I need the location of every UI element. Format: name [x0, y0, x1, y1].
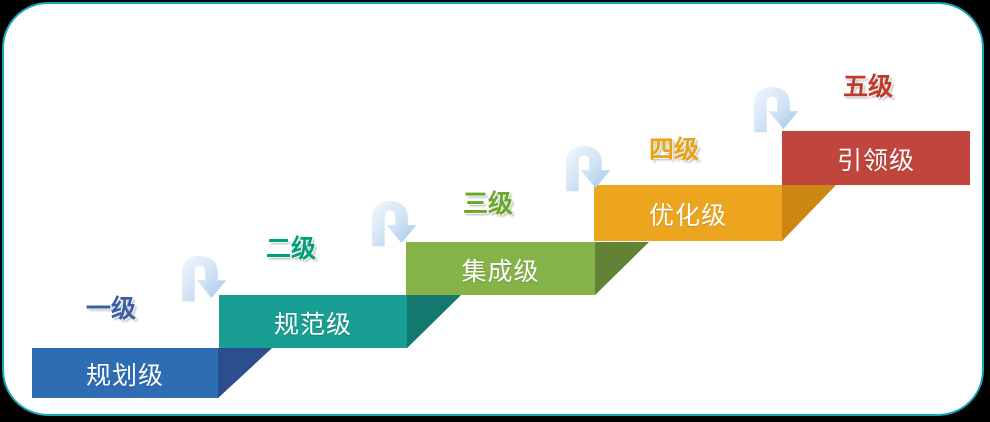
level-label-4: 四级 — [649, 130, 699, 166]
level-label-5: 五级 — [843, 67, 893, 103]
curved-arrow-icon-3 — [566, 146, 610, 191]
steps-group — [32, 131, 970, 398]
step-2-face[interactable] — [219, 295, 407, 348]
curved-arrow-icon-1 — [182, 256, 226, 301]
step-1-face[interactable] — [32, 348, 218, 398]
level-label-2: 二级 — [266, 229, 316, 265]
step-4-face[interactable] — [594, 185, 782, 241]
figure-stage: 规划级 规范级 集成级 优化级 引领级 一级 二级 三级 四级 五级 — [0, 0, 990, 422]
step-3-face[interactable] — [406, 242, 595, 295]
step-5-face[interactable] — [782, 131, 970, 185]
level-label-1: 一级 — [86, 289, 136, 325]
curved-arrow-icon-2 — [372, 201, 416, 246]
curved-arrow-icon-4 — [754, 87, 798, 132]
level-label-3: 三级 — [463, 184, 513, 220]
